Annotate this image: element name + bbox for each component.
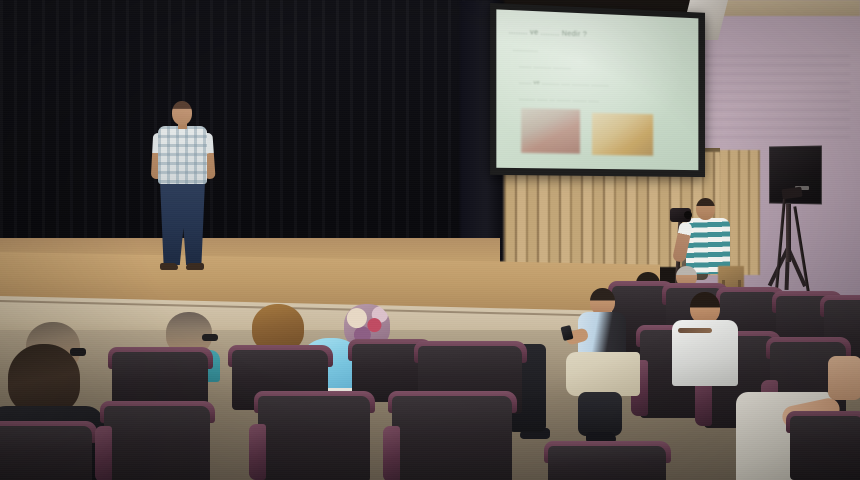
auditorium-photo: ........ ve ........ Nedir ? ...........… (0, 0, 860, 480)
auditorium-seat (790, 416, 860, 480)
seat-back (548, 446, 666, 480)
audience-dark-trousers (578, 392, 622, 436)
seat-back (258, 396, 370, 480)
seat-back (0, 426, 92, 480)
auditorium-seat (258, 396, 370, 480)
seat-back (392, 396, 512, 480)
audience-arm-right-edge (828, 356, 860, 400)
auditorium-seat (548, 446, 666, 480)
seat-armrest (249, 424, 266, 480)
auditorium-seat (104, 406, 210, 480)
seat-back (104, 406, 210, 480)
projection-screen-surface: ........ ve ........ Nedir ? ...........… (496, 9, 698, 170)
seat-back (790, 416, 860, 480)
glasses (70, 348, 86, 356)
screen-glare (496, 9, 698, 170)
presenter-shoe-right (186, 263, 204, 270)
speaker-stand-pole (786, 200, 791, 262)
cameraman-head (696, 198, 715, 220)
wall-text-panel (700, 55, 850, 140)
auditorium-seat (392, 396, 512, 480)
audience-beige-trousers (566, 352, 640, 396)
head-hair (8, 344, 80, 414)
projection-screen: ........ ve ........ Nedir ? ...........… (490, 3, 705, 177)
auditorium-seat (0, 426, 92, 480)
presenter-shoe-left (160, 263, 178, 270)
seat-armrest (95, 426, 112, 480)
strap (678, 328, 712, 333)
camera-lens (684, 211, 692, 219)
presenter-head (172, 101, 192, 125)
seat-armrest (383, 426, 400, 480)
glasses (202, 334, 218, 341)
presenter-shirt (158, 126, 207, 184)
stage-curtain (0, 0, 500, 258)
head (590, 288, 615, 315)
